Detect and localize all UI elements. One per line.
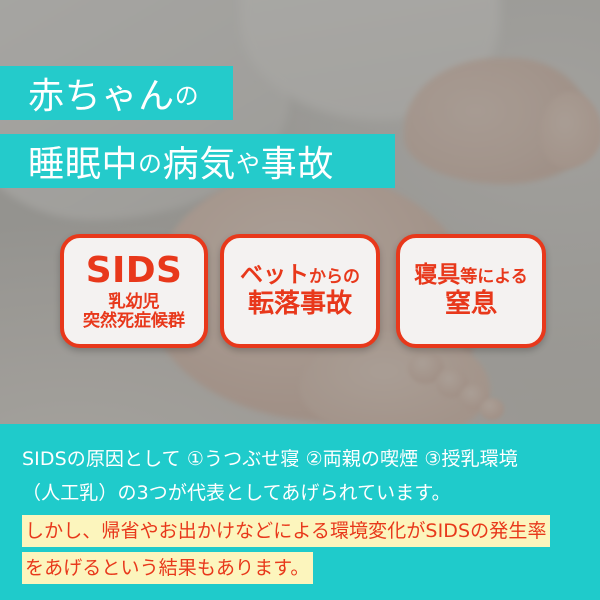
- card-suffocation-tail: 窒息: [445, 290, 497, 319]
- body-text-line-1: SIDSの原因として ①うつぶせ寝 ②両親の喫煙 ③授乳環境: [22, 442, 578, 476]
- body-text-line-2: （人工乳）の3つが代表としてあげられています。: [22, 476, 578, 510]
- bottom-text-panel: SIDSの原因として ①うつぶせ寝 ②両親の喫煙 ③授乳環境 （人工乳）の3つが…: [0, 424, 600, 600]
- headline-line2-part1: 睡眠中: [28, 135, 138, 187]
- photo-grey-overlay: [0, 0, 600, 424]
- headline-line2-part2: 病気: [163, 135, 236, 187]
- card-sids-subtitle-1: 乳幼児: [109, 293, 160, 312]
- headline-line2-particle2: や: [236, 144, 260, 179]
- highlighted-text-line-1: しかし、帰省やお出かけなどによる環境変化がSIDSの発生率: [22, 515, 550, 547]
- headline-bar-1: 赤ちゃんの: [0, 66, 233, 120]
- card-fall-tail: 転落事故: [248, 290, 352, 319]
- card-suffocation-lead: 寝具等による: [414, 263, 528, 289]
- background-photo: [0, 0, 600, 424]
- card-fall-lead-small: からの: [309, 267, 360, 287]
- headline-line2-particle1: の: [138, 144, 162, 179]
- headline-line1-main: 赤ちゃん: [28, 67, 175, 119]
- poster-root: 赤ちゃんの 睡眠中の病気や事故 SIDS 乳幼児 突然死症候群 ベットからの 転…: [0, 0, 600, 600]
- card-fall-lead: ベットからの: [240, 263, 360, 289]
- card-sids-subtitle-2: 突然死症候群: [83, 312, 185, 331]
- headline-line2-part3: 事故: [261, 135, 334, 187]
- highlight-wrap-1: しかし、帰省やお出かけなどによる環境変化がSIDSの発生率: [22, 510, 578, 547]
- card-suffocation-lead-main: 寝具: [414, 262, 460, 288]
- card-sids[interactable]: SIDS 乳幼児 突然死症候群: [60, 234, 208, 348]
- card-fall-lead-main: ベット: [240, 262, 309, 288]
- card-fall[interactable]: ベットからの 転落事故: [220, 234, 380, 348]
- headline-bar-2: 睡眠中の病気や事故: [0, 134, 395, 188]
- highlighted-text-line-2: をあげるという結果もあります。: [22, 552, 313, 584]
- card-suffocation-lead-small: 等による: [460, 267, 528, 287]
- card-sids-title: SIDS: [86, 251, 183, 291]
- highlight-wrap-2: をあげるという結果もあります。: [22, 547, 578, 584]
- card-suffocation[interactable]: 寝具等による 窒息: [396, 234, 546, 348]
- headline-line1-particle: の: [175, 76, 199, 111]
